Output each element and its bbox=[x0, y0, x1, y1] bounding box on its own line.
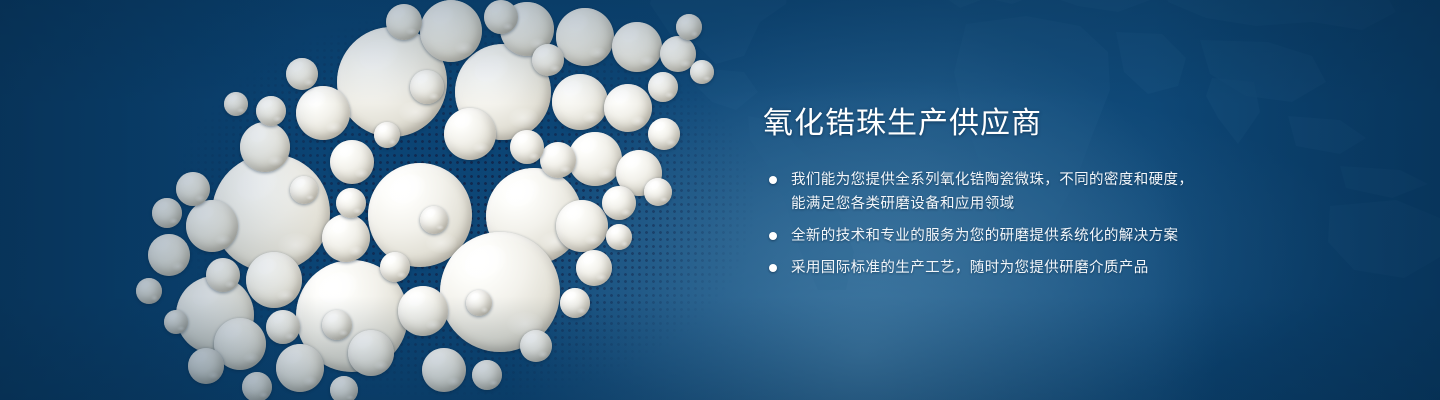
feature-list: 我们能为您提供全系列氧化锆陶瓷微珠，不同的密度和硬度， 能满足您各类研磨设备和应… bbox=[763, 168, 1323, 280]
bullet-dot-icon bbox=[769, 264, 777, 272]
banner-copy: 氧化锆珠生产供应商 我们能为您提供全系列氧化锆陶瓷微珠，不同的密度和硬度， 能满… bbox=[763, 104, 1323, 280]
list-item: 我们能为您提供全系列氧化锆陶瓷微珠，不同的密度和硬度， 能满足您各类研磨设备和应… bbox=[763, 168, 1323, 216]
list-item-line1: 采用国际标准的生产工艺，随时为您提供研磨介质产品 bbox=[791, 260, 1149, 276]
bullet-dot-icon bbox=[769, 232, 777, 240]
hero-banner: 氧化锆珠生产供应商 我们能为您提供全系列氧化锆陶瓷微珠，不同的密度和硬度， 能满… bbox=[0, 0, 1440, 400]
bullet-dot-icon bbox=[769, 176, 777, 184]
page-title: 氧化锆珠生产供应商 bbox=[763, 104, 1323, 144]
list-item: 采用国际标准的生产工艺，随时为您提供研磨介质产品 bbox=[763, 256, 1323, 280]
list-item-line2: 能满足您各类研磨设备和应用领域 bbox=[791, 192, 1323, 216]
list-item: 全新的技术和专业的服务为您的研磨提供系统化的解决方案 bbox=[763, 224, 1323, 248]
list-item-line1: 我们能为您提供全系列氧化锆陶瓷微珠，不同的密度和硬度， bbox=[791, 172, 1193, 188]
list-item-line1: 全新的技术和专业的服务为您的研磨提供系统化的解决方案 bbox=[791, 228, 1178, 244]
